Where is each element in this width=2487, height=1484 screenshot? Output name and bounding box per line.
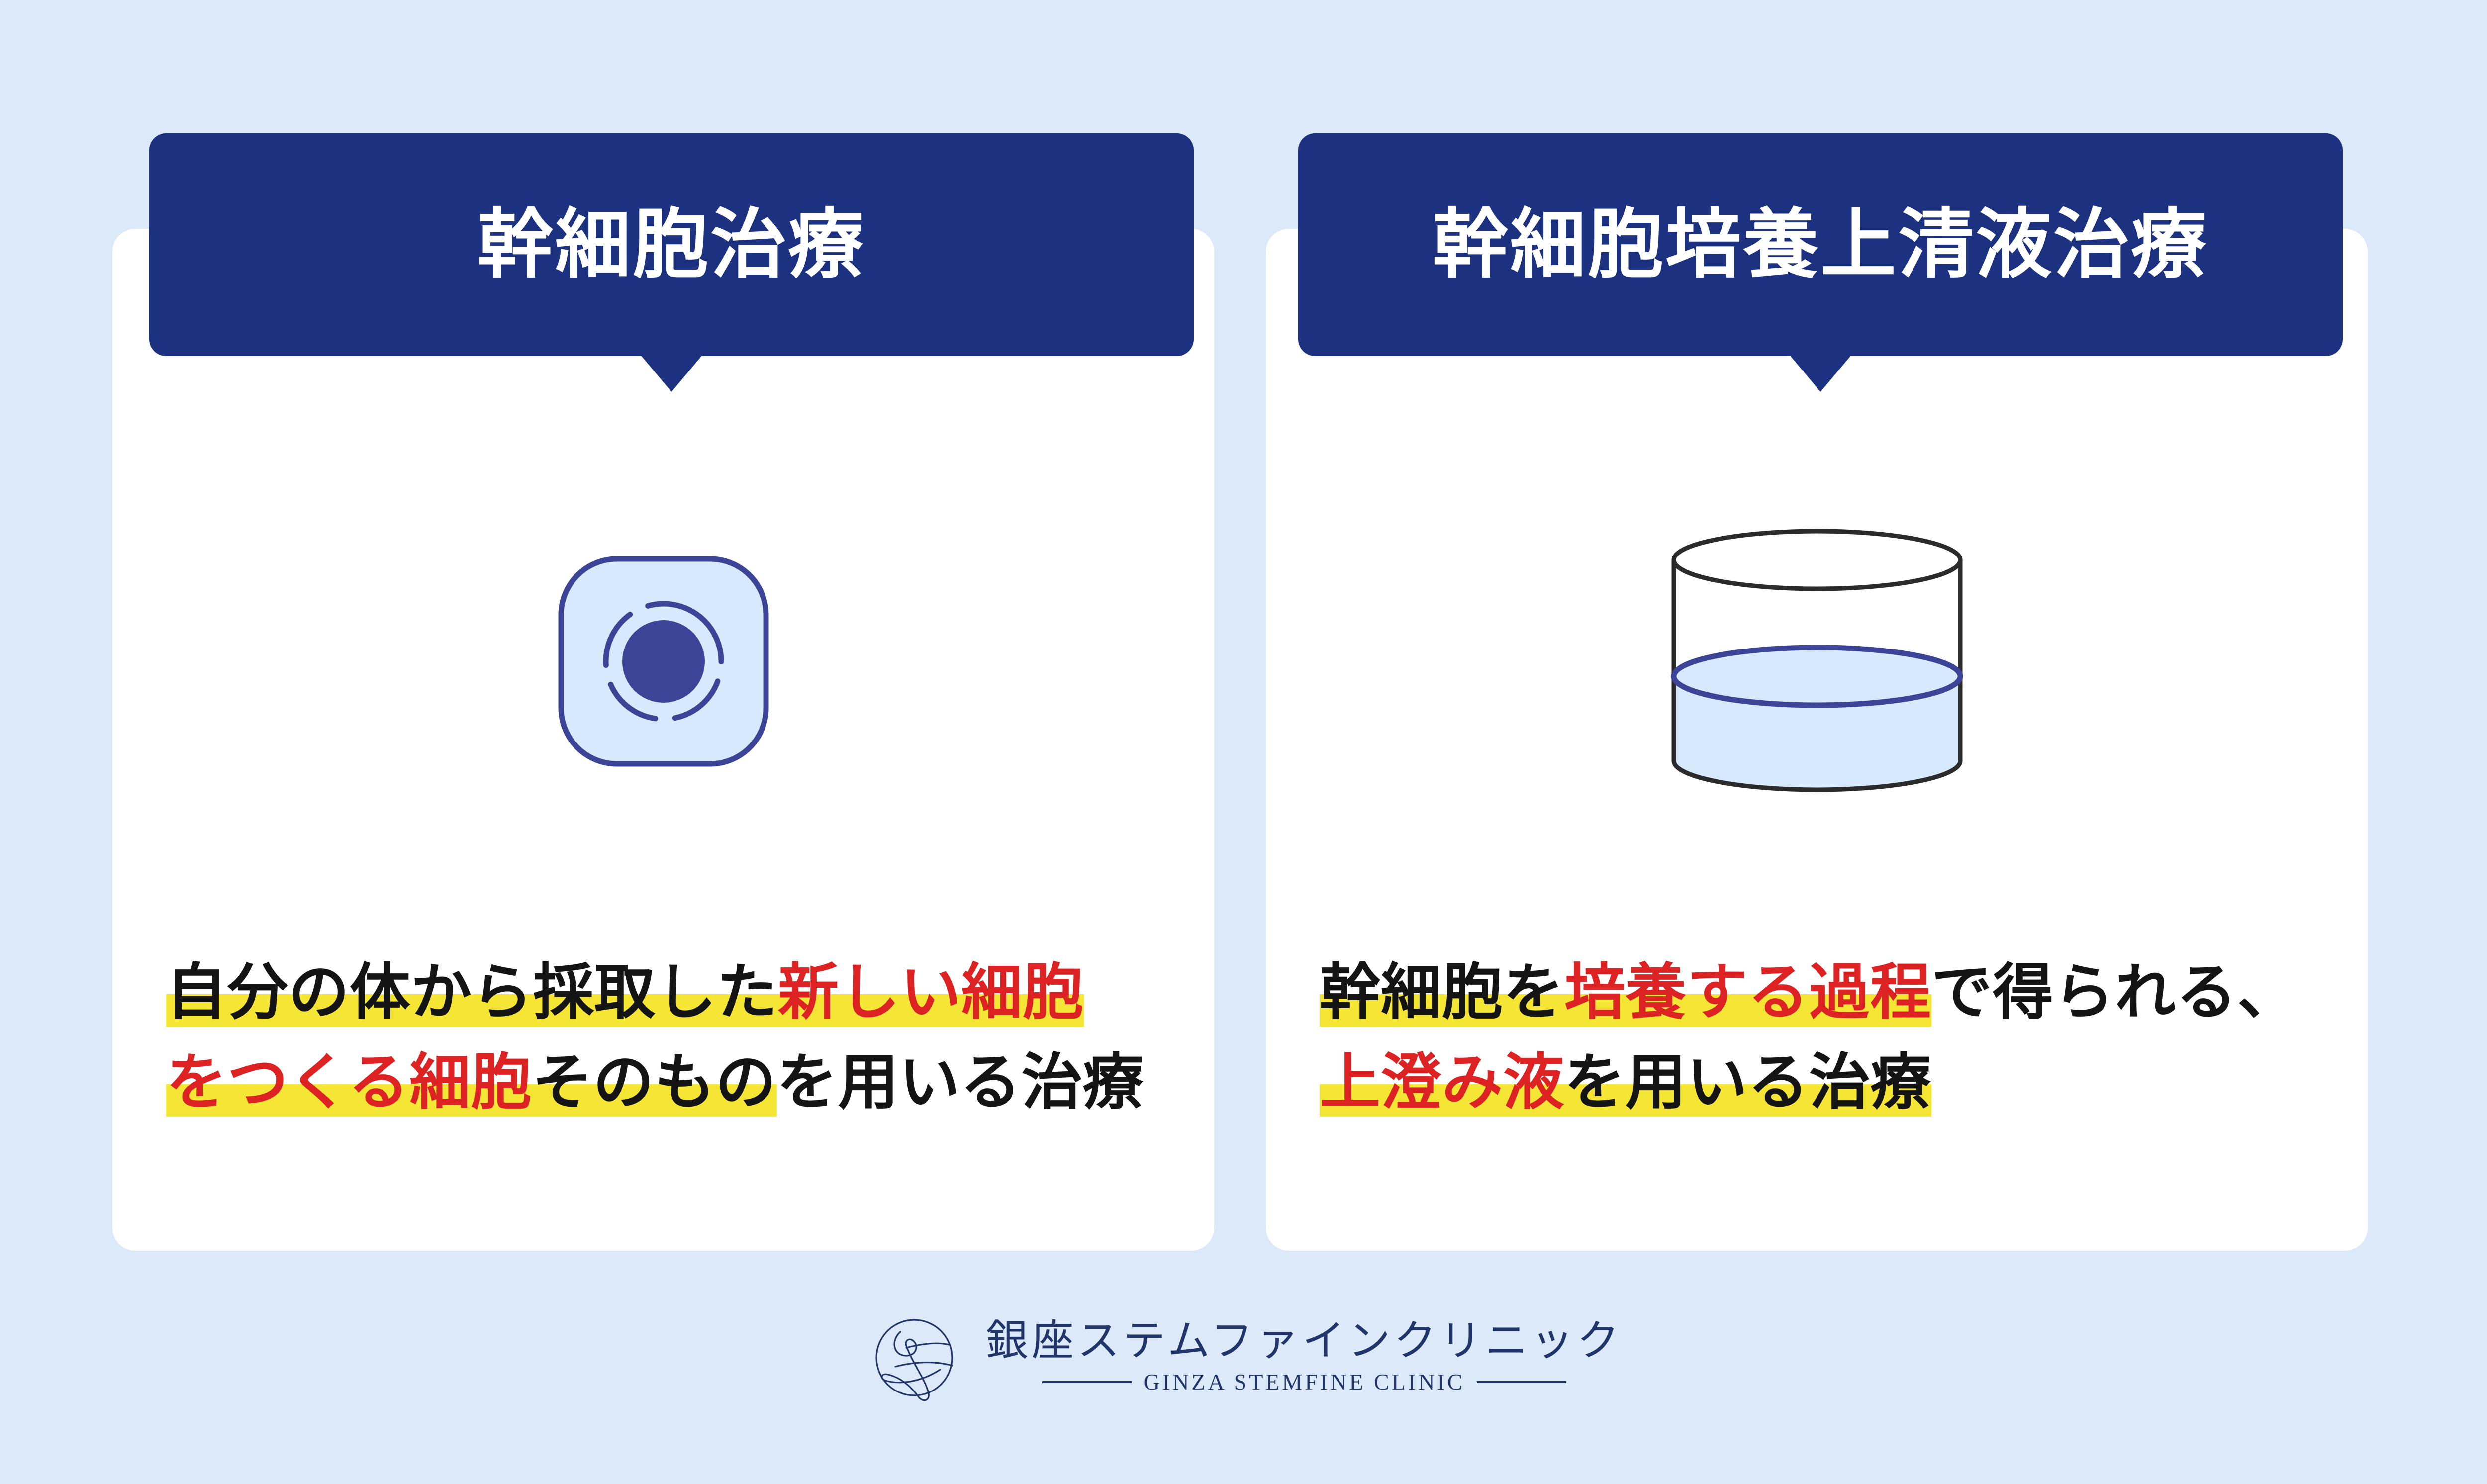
clinic-name-jp: 銀座ステムファインクリニック [986, 1320, 1623, 1363]
header-pointer-right-icon [1790, 355, 1851, 392]
infographic-canvas: 幹細胞治療 自分の体から採取した新しい細胞 をつくる細胞そのものを用いる治療 幹… [0, 0, 2487, 1484]
text-span: そのもの [532, 1048, 777, 1117]
text-span: を用いる治療 [777, 1048, 1144, 1116]
divider-line-left [1042, 1381, 1132, 1383]
card-header-right-title: 幹細胞培養上清液治療 [1433, 207, 2208, 282]
clinic-name-en: GINZA STEMFINE CLINIC [1144, 1369, 1465, 1395]
body-line: 幹細胞を培養する過程で得られる、 [1266, 947, 2368, 1037]
header-pointer-left-icon [641, 355, 702, 392]
stem-cell-icon [557, 555, 770, 768]
clinic-name-en-row: GINZA STEMFINE CLINIC [1042, 1369, 1567, 1395]
illustration-right [1266, 438, 2368, 885]
divider-line-right [1477, 1381, 1566, 1383]
ginza-stemfine-monogram-icon [864, 1308, 964, 1407]
culture-vessel-icon [1653, 527, 1981, 796]
text-span: 上澄み液 [1320, 1048, 1564, 1117]
clinic-logo: 銀座ステムファインクリニック GINZA STEMFINE CLINIC [0, 1308, 2487, 1407]
text-span: で得られる、 [1931, 958, 2298, 1026]
text-span: 自分の体から採取した [166, 958, 778, 1027]
text-span: 幹細胞を [1320, 958, 1564, 1027]
card-header-left-title: 幹細胞治療 [478, 207, 865, 282]
text-span: をつくる細胞 [166, 1048, 532, 1117]
clinic-logo-text: 銀座ステムファインクリニック GINZA STEMFINE CLINIC [986, 1320, 1623, 1395]
body-line: 上澄み液を用いる治療 [1266, 1037, 2368, 1127]
card-header-right: 幹細胞培養上清液治療 [1298, 133, 2343, 356]
body-line: 自分の体から採取した新しい細胞 [112, 947, 1214, 1037]
text-span: 新しい細胞 [778, 958, 1084, 1027]
body-text-left: 自分の体から採取した新しい細胞 をつくる細胞そのものを用いる治療 [112, 947, 1214, 1127]
text-span: 培養する過程 [1564, 958, 1931, 1027]
card-header-left: 幹細胞治療 [149, 133, 1194, 356]
illustration-left [112, 438, 1214, 885]
body-text-right: 幹細胞を培養する過程で得られる、 上澄み液を用いる治療 [1266, 947, 2368, 1127]
text-span: を用いる治療 [1564, 1048, 1931, 1117]
body-line: をつくる細胞そのものを用いる治療 [112, 1037, 1214, 1127]
